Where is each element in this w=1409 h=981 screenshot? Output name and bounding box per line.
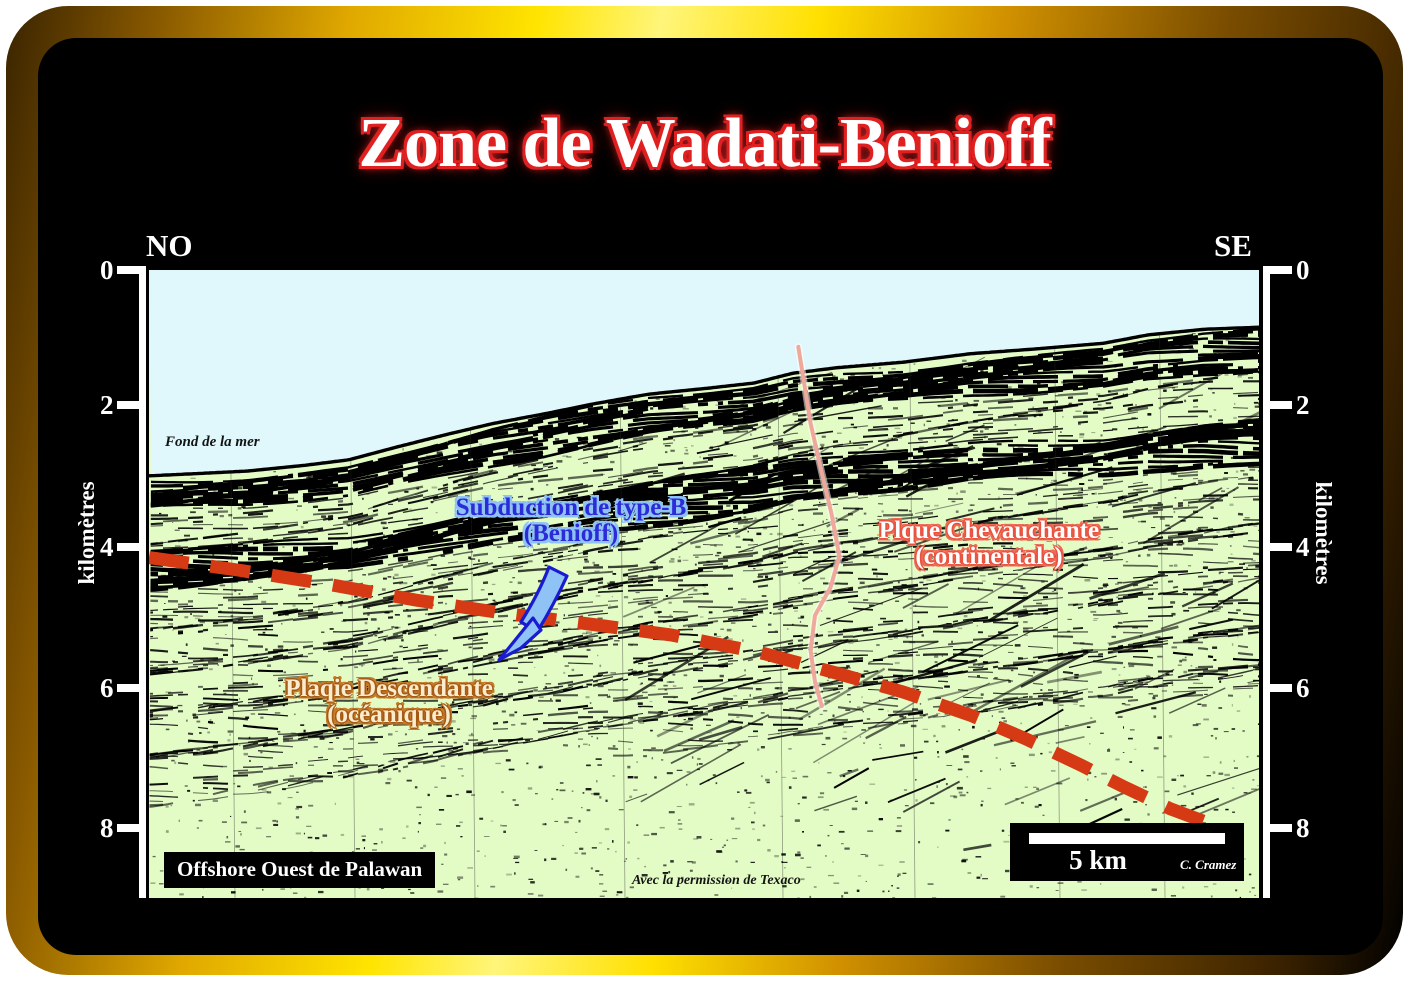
courtesy-note: Avec la permission de Texaco bbox=[632, 874, 801, 888]
location-badge: Offshore Ouest de Palawan bbox=[164, 852, 435, 888]
axis-right-label-8: 8 bbox=[1296, 813, 1310, 844]
descending-plate-line1: Plaqie Descendante bbox=[229, 676, 549, 702]
benioff-annotation-line1: Subduction de type-B bbox=[421, 495, 721, 521]
seismic-canvas bbox=[149, 270, 1259, 898]
axis-left-tick-0 bbox=[117, 266, 139, 274]
axis-left-label-4: 4 bbox=[100, 532, 114, 563]
descending-plate-line2: (océanique) bbox=[229, 702, 549, 728]
benioff-annotation: Subduction de type-B (Benioff) bbox=[421, 495, 721, 546]
axis-right-tick-8 bbox=[1270, 824, 1292, 832]
location-badge-label: Offshore Ouest de Palawan bbox=[177, 857, 422, 881]
axis-left-label-2: 2 bbox=[100, 390, 114, 421]
axis-left-tick-4 bbox=[117, 543, 139, 551]
seismic-section-panel: Fond de la mer Subduction de type-B (Ben… bbox=[149, 270, 1259, 898]
axis-left-tick-2 bbox=[117, 401, 139, 409]
axis-right-label-4: 4 bbox=[1296, 532, 1310, 563]
page-title: Zone de Wadati-Benioff bbox=[0, 104, 1409, 184]
axis-left-tick-8 bbox=[117, 824, 139, 832]
axis-right-tick-6 bbox=[1270, 684, 1292, 692]
axis-left-label-8: 8 bbox=[100, 813, 114, 844]
axis-right-tick-2 bbox=[1270, 401, 1292, 409]
axis-right-label-6: 6 bbox=[1296, 673, 1310, 704]
axis-right-label-2: 2 bbox=[1296, 390, 1310, 421]
axis-right-tick-4 bbox=[1270, 543, 1292, 551]
scale-bar-rule bbox=[1029, 833, 1225, 844]
descending-plate-annotation: Plaqie Descendante (océanique) bbox=[229, 676, 549, 727]
axis-left-tick-6 bbox=[117, 684, 139, 692]
benioff-annotation-line2: (Benioff) bbox=[421, 521, 721, 547]
compass-label-northwest: NO bbox=[146, 228, 193, 264]
scale-bar-label: 5 km bbox=[1010, 845, 1186, 876]
overriding-plate-annotation: Plque Chevauchante (continentale) bbox=[839, 518, 1139, 569]
seafloor-label: Fond de la mer bbox=[165, 435, 260, 450]
axis-left-rail bbox=[139, 266, 146, 898]
overriding-plate-line2: (continentale) bbox=[839, 544, 1139, 570]
compass-label-southeast: SE bbox=[1214, 228, 1252, 264]
axis-right-label-0: 0 bbox=[1296, 255, 1310, 286]
axis-left-label-0: 0 bbox=[100, 255, 114, 286]
axis-right-tick-0 bbox=[1270, 266, 1292, 274]
author-credit: C. Cramez bbox=[1180, 857, 1236, 873]
scale-bar-box: 5 km C. Cramez bbox=[1010, 823, 1244, 881]
axis-left-label-6: 6 bbox=[100, 673, 114, 704]
axis-right-title: kilomètres bbox=[1310, 438, 1336, 628]
axis-left-title: kilomètres bbox=[74, 438, 100, 628]
overriding-plate-line1: Plque Chevauchante bbox=[839, 518, 1139, 544]
axis-right-rail bbox=[1263, 266, 1270, 898]
poster-root: Zone de Wadati-Benioff NO SE 0 2 4 6 8 k… bbox=[0, 0, 1409, 981]
